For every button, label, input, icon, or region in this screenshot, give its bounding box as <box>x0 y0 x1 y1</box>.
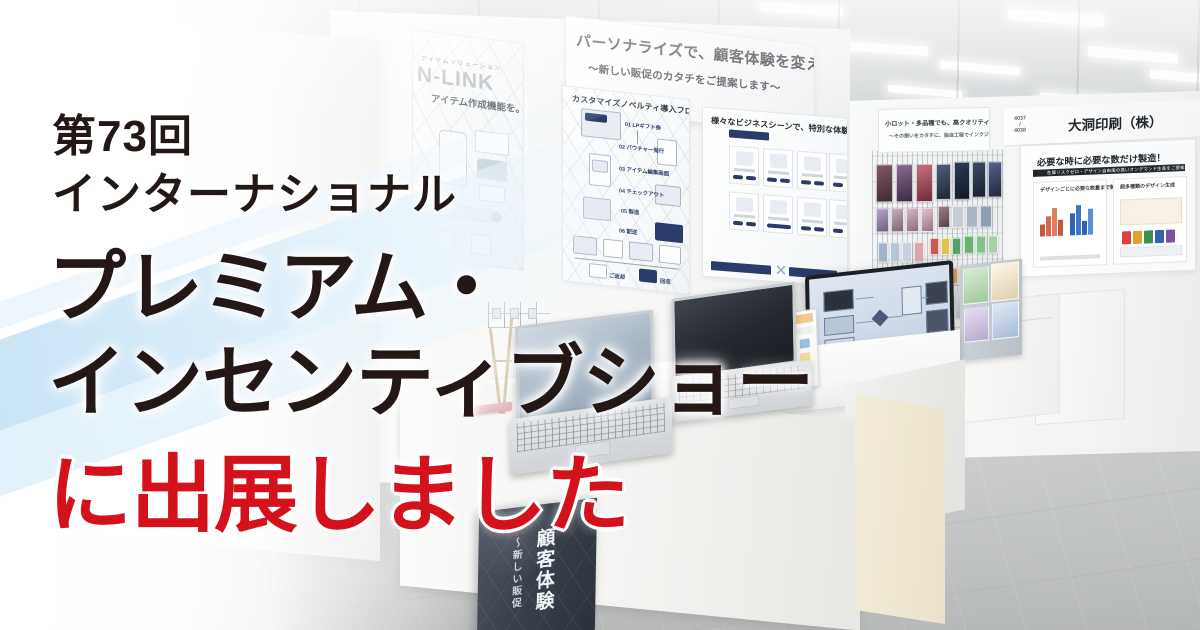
banner-canvas: 4037 / 4038 大洞印刷（株） パーソナライズで、顧客体験を変える 〜新… <box>0 0 1200 630</box>
headline-line-1: 第73回 <box>52 100 193 164</box>
headline-block: 第73回 インターナショナル プレミアム・ インセンティブショー に出展しました <box>0 0 1200 630</box>
headline-line-2: インターナショナル <box>52 158 457 222</box>
headline-line-4: インセンティブショー <box>48 320 813 432</box>
headline-line-5: に出展しました <box>48 428 629 549</box>
